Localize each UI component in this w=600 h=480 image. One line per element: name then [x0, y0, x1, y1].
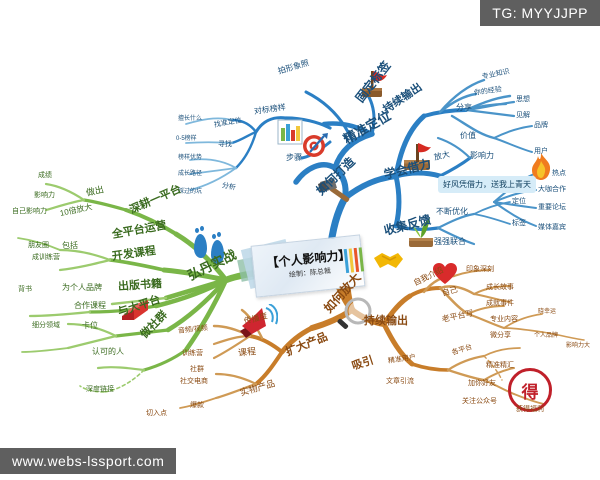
node-wenzhang-yinliu[interactable]: 文章引流 [386, 376, 414, 386]
node-shequn[interactable]: 社群 [190, 364, 204, 374]
node-wei-fenxiang[interactable]: 微分享 [490, 330, 511, 340]
node-yinxiang-shenke[interactable]: 印象深刻 [466, 264, 494, 274]
bar-chart-icon [277, 118, 303, 148]
node-kecheng[interactable]: 课程 [237, 344, 256, 359]
pencils-icon [344, 247, 369, 275]
node-sixiang[interactable]: 思想 [516, 94, 530, 104]
node-meiti-jiabin[interactable]: 媒体嘉宾 [538, 222, 566, 232]
node-cheng-xunlianying[interactable]: 成训练营 [32, 252, 60, 262]
seal-char: 得 [522, 378, 539, 403]
node-pengyouquan[interactable]: 朋友圈 [28, 240, 49, 250]
node-biaoqian[interactable]: 标签 [512, 218, 526, 228]
node-chengjiu-shijian[interactable]: 成就事件 [486, 298, 514, 308]
node-jingzhun-jinghui[interactable]: 精准精汇 [486, 360, 514, 370]
node-zhongyao-luntan[interactable]: 重要论坛 [538, 202, 566, 212]
node-geren-pinpai[interactable]: 个人品牌 [534, 330, 558, 339]
mindmap-canvas: 【个人影响力】 绘制：陈总裁 [0, 0, 600, 480]
node-yingxiangli-green[interactable]: 影响力 [34, 190, 55, 200]
node-daka-hezuo[interactable]: 大咖合作 [538, 184, 566, 194]
node-bangyang-youshi[interactable]: 榜样优势 [178, 152, 202, 161]
node-xunlianying[interactable]: 训练营 [182, 348, 203, 358]
node-baokuan[interactable]: 爆款 [190, 400, 204, 410]
node-dingwei[interactable]: 定位 [512, 196, 526, 206]
node-xunzhao[interactable]: 寻找 [218, 139, 232, 149]
node-huode-fuli[interactable]: 获得福利 [516, 404, 544, 414]
node-shejiao-dianshang[interactable]: 社交电商 [180, 376, 208, 386]
handshake-icon [372, 248, 404, 276]
node-renke-deren[interactable]: 认可的人 [92, 346, 124, 357]
node-jiazhi[interactable]: 价值 [460, 130, 476, 141]
node-yingxiangli[interactable]: 影响力 [470, 150, 494, 161]
node-shanchang-shenme[interactable]: 擅长什么 [178, 113, 202, 122]
watermark-top-right: TG: MYYJJPP [480, 0, 600, 26]
node-buzhou[interactable]: 步骤 [286, 152, 302, 163]
node-shendu-lianjie[interactable]: 深度链接 [86, 384, 114, 394]
node-xiao-xingyun[interactable]: 晓幸运 [538, 306, 556, 315]
node-pinpai[interactable]: 品牌 [534, 120, 548, 130]
node-zhuanye-neirong[interactable]: 专业内容 [490, 314, 518, 324]
node-ziji-yingxiangli[interactable]: 自己影响力 [12, 206, 47, 216]
watermark-bottom-left: www.webs-lssport.com [0, 448, 176, 474]
node-hezuo-kecheng[interactable]: 合作课程 [74, 300, 106, 311]
node-baokuo[interactable]: 包括 [62, 240, 78, 251]
node-buduan-youhua[interactable]: 不断优化 [436, 206, 468, 217]
node-yonghu[interactable]: 用户 [534, 146, 548, 156]
node-kawei[interactable]: 卡位 [82, 320, 98, 331]
node-yingxiang-fangda[interactable]: 影响力大 [566, 340, 590, 349]
node-redian[interactable]: 热点 [552, 168, 566, 178]
node-chengji[interactable]: 成绩 [38, 170, 52, 180]
node-chixu-shuchu-bottom[interactable]: 持续输出 [364, 312, 408, 328]
node-qieru-dian[interactable]: 切入点 [146, 408, 167, 418]
seal-icon: 得 [508, 368, 546, 406]
node-wei-geren-pinpai[interactable]: 为个人品牌 [62, 282, 102, 293]
node-xifen-lingyu[interactable]: 细分领域 [32, 320, 60, 330]
target-icon [300, 130, 330, 160]
node-jianjie[interactable]: 见解 [516, 110, 530, 120]
node-qiangqiang-lianhe[interactable]: 强强联合 [434, 236, 466, 247]
highlight-quote: 好风凭借力，送我上青天 [438, 176, 536, 193]
node-fenxiang[interactable]: 分享 [456, 102, 472, 113]
node-jia-ni-haoyou[interactable]: 加你好友 [468, 378, 496, 388]
node-05-bangyang[interactable]: 0-5榜样 [176, 133, 197, 142]
node-chengzhang-lujing[interactable]: 成长路径 [178, 168, 202, 177]
node-beishu[interactable]: 背书 [18, 284, 32, 294]
node-chengzhang-gushi[interactable]: 成长故事 [486, 282, 514, 292]
node-guanzhu-gongzhonghao[interactable]: 关注公众号 [462, 396, 497, 406]
